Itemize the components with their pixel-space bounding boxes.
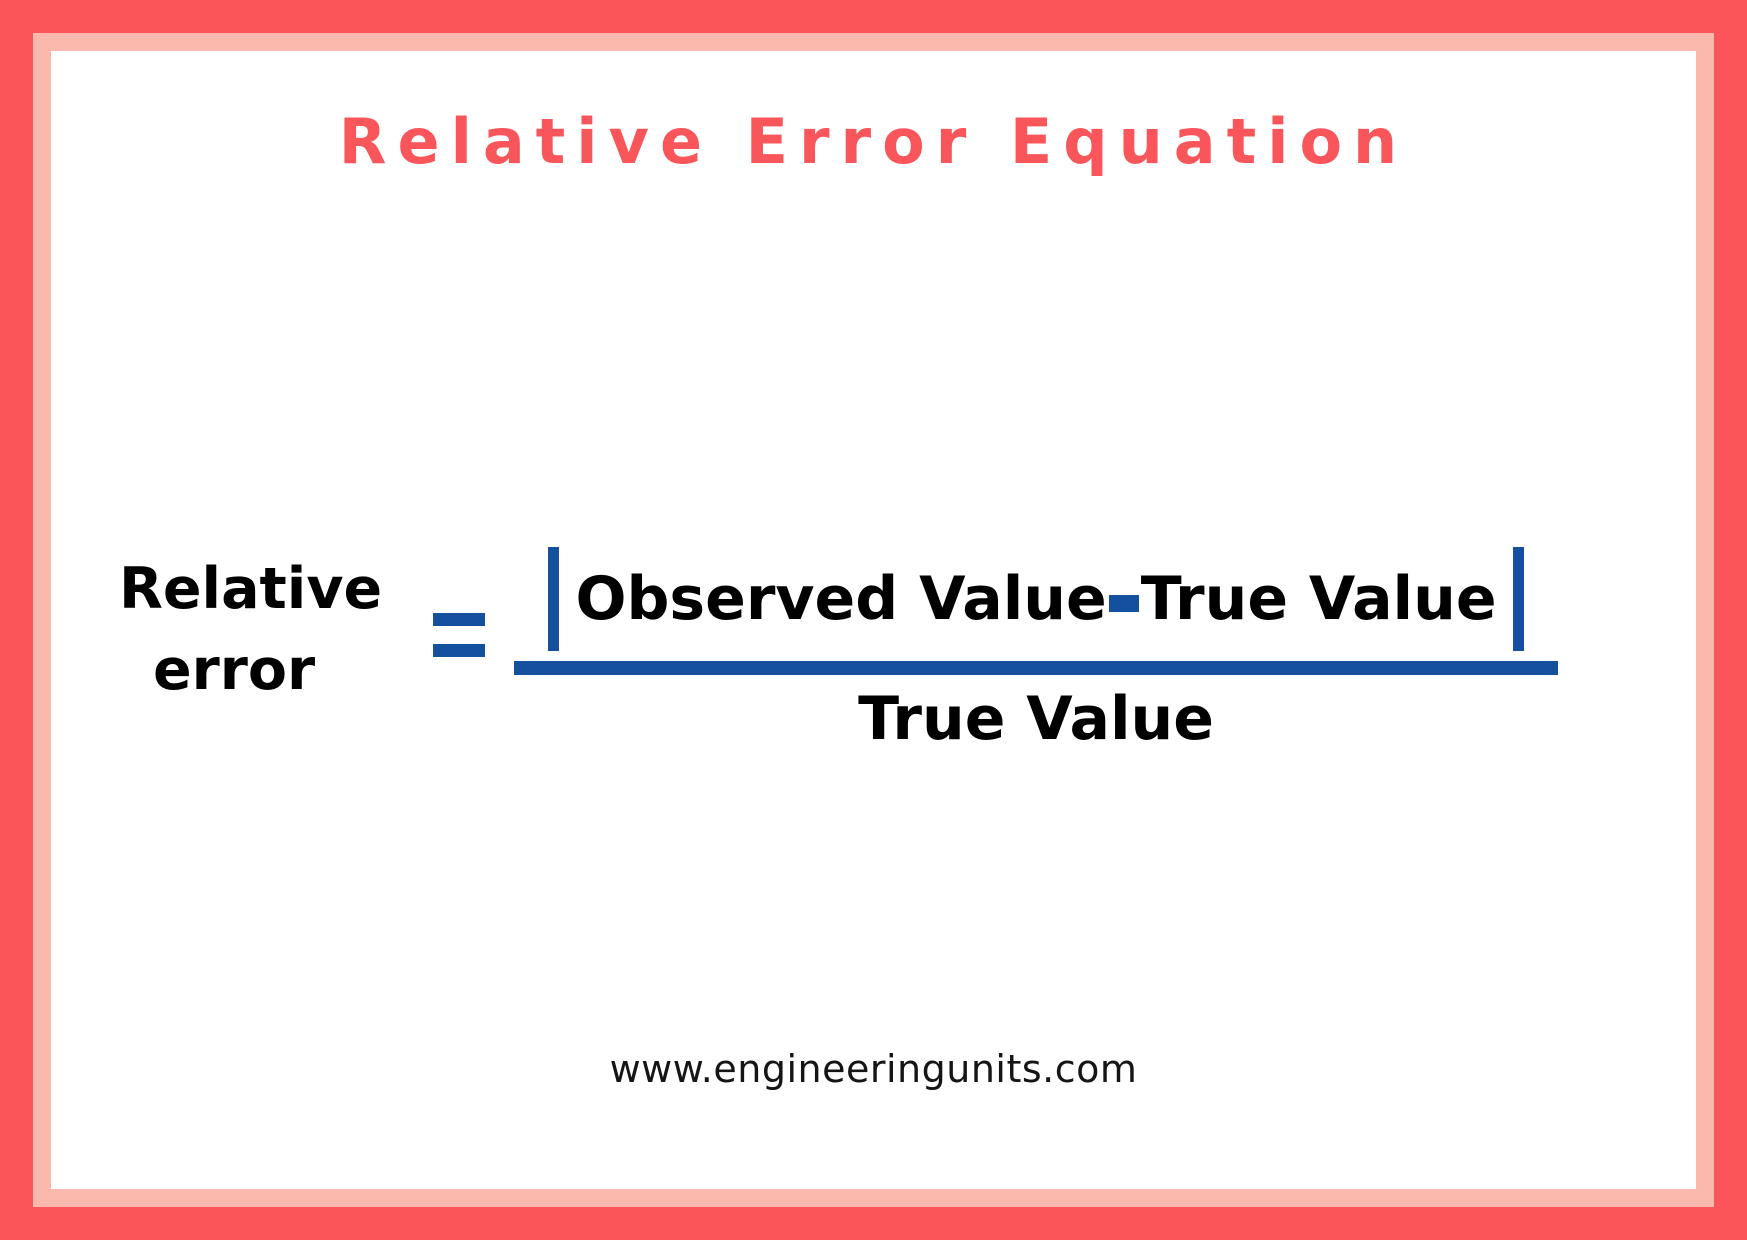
- equals-bar-top: [433, 613, 485, 626]
- numerator-first-term: Observed Value: [575, 569, 1106, 629]
- page-title: Relative Error Equation: [51, 109, 1696, 174]
- absolute-value-bar-left-icon: [548, 547, 559, 651]
- poster-inner-border: Relative Error Equation Relative error O…: [33, 33, 1714, 1207]
- fraction: Observed Value True Value True Value: [511, 471, 1561, 801]
- equals-bar-bottom: [433, 644, 485, 657]
- formula-left-label: Relative error: [113, 549, 403, 711]
- minus-sign-icon: [1109, 595, 1139, 612]
- poster-frame: Relative Error Equation Relative error O…: [0, 0, 1747, 1240]
- footer-website-url: www.engineeringunits.com: [51, 1047, 1696, 1091]
- equals-sign-icon: [433, 613, 485, 659]
- numerator-expression: Observed Value True Value: [575, 569, 1496, 629]
- numerator-second-term: True Value: [1141, 569, 1497, 629]
- absolute-value-bar-right-icon: [1513, 547, 1524, 651]
- fraction-denominator: True Value: [511, 686, 1561, 752]
- fraction-numerator: Observed Value True Value: [511, 529, 1561, 669]
- relative-error-formula: Relative error Observed Value True Value: [113, 471, 1643, 801]
- poster-canvas: Relative Error Equation Relative error O…: [51, 51, 1696, 1189]
- fraction-rule: [514, 661, 1558, 675]
- formula-left-label-line2: error: [113, 630, 403, 711]
- formula-left-label-line1: Relative: [113, 549, 403, 630]
